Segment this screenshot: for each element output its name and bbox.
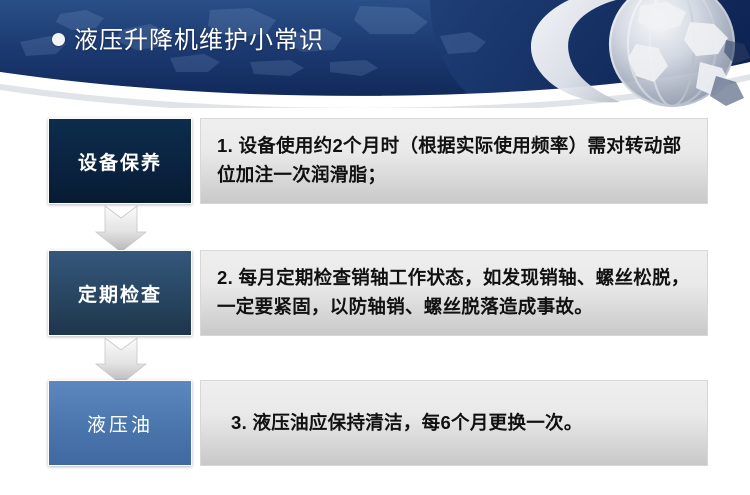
- step-label-text-1: 设备保养: [78, 148, 162, 175]
- slide-page: 液压升降机维护小常识 设备保养 1. 设备使用约2个月时（根据实际使用频率）需对…: [0, 0, 750, 495]
- step-row-3: 液压油 3. 液压油应保持清洁，每6个月更换一次。: [0, 380, 750, 466]
- step-text-1: 1. 设备使用约2个月时（根据实际使用频率）需对转动部位加注一次润滑脂；: [217, 132, 693, 189]
- step-text-panel-3: 3. 液压油应保持清洁，每6个月更换一次。: [200, 380, 708, 466]
- globe-graphic: [531, 0, 750, 106]
- step-row-2: 定期检查 2. 每月定期检查销轴工作状态，如发现销轴、螺丝松脱，一定要紧固，以防…: [0, 250, 750, 336]
- step-text-panel-2: 2. 每月定期检查销轴工作状态，如发现销轴、螺丝松脱，一定要紧固，以防轴销、螺丝…: [200, 250, 708, 336]
- step-label-text-3: 液压油: [87, 410, 153, 437]
- page-title-text: 液压升降机维护小常识: [74, 20, 324, 55]
- bullet-icon: [52, 33, 65, 46]
- step-row-1: 设备保养 1. 设备使用约2个月时（根据实际使用频率）需对转动部位加注一次润滑脂…: [0, 118, 750, 204]
- down-arrow-1: [95, 204, 147, 254]
- step-label-box-3[interactable]: 液压油: [48, 380, 192, 466]
- step-label-box-2[interactable]: 定期检查: [48, 250, 192, 336]
- down-arrow-notched-icon: [95, 336, 147, 386]
- step-text-3: 3. 液压油应保持清洁，每6个月更换一次。: [217, 409, 583, 438]
- down-arrow-notched-icon: [95, 204, 147, 254]
- step-text-panel-1: 1. 设备使用约2个月时（根据实际使用频率）需对转动部位加注一次润滑脂；: [200, 118, 708, 204]
- page-header: 液压升降机维护小常识: [0, 0, 750, 108]
- steps-list: 设备保养 1. 设备使用约2个月时（根据实际使用频率）需对转动部位加注一次润滑脂…: [0, 108, 750, 495]
- step-label-text-2: 定期检查: [78, 280, 162, 307]
- step-label-box-1[interactable]: 设备保养: [48, 118, 192, 204]
- down-arrow-2: [95, 336, 147, 386]
- page-title: 液压升降机维护小常识: [52, 20, 324, 55]
- step-text-2: 2. 每月定期检查销轴工作状态，如发现销轴、螺丝松脱，一定要紧固，以防轴销、螺丝…: [217, 264, 693, 321]
